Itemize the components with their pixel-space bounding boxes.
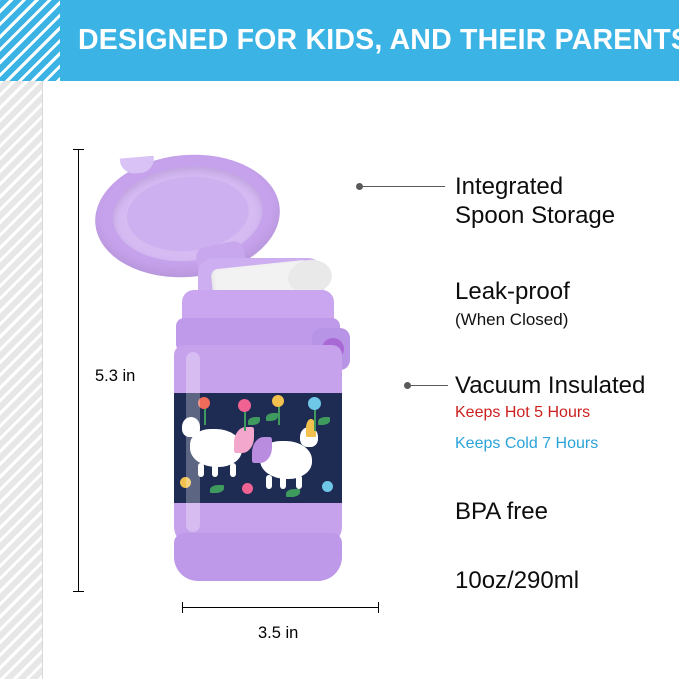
feature-leak-proof-sub: (When Closed) [455,309,568,331]
height-tick-bottom [73,591,84,592]
height-dimension-label: 5.3 in [92,365,138,388]
leaf [318,417,330,425]
left-stripe-pattern [0,81,42,679]
unicorn-leg [212,463,218,477]
flower [242,483,253,494]
lid-notch [120,156,155,175]
callout-line-vacuum-insulated [410,385,448,386]
header-banner: DESIGNED FOR KIDS, AND THEIR PARENTS [0,0,679,81]
feature-keeps-hot: Keeps Hot 5 Hours [455,402,590,423]
left-divider [42,81,43,679]
unicorn-leg [266,475,272,489]
feature-capacity: 10oz/290ml [455,566,579,595]
product-infographic: DESIGNED FOR KIDS, AND THEIR PARENTS [0,0,679,679]
leaf [266,413,278,421]
feature-keeps-cold: Keeps Cold 7 Hours [455,433,598,454]
flower [308,397,321,410]
leaf [286,489,300,497]
width-dimension-label: 3.5 in [258,624,298,643]
unicorn-leg [230,463,236,477]
unicorn-leg [296,475,302,489]
feature-bpa-free: BPA free [455,497,548,526]
height-dimension-line [78,149,79,592]
width-tick-left [182,602,183,613]
unicorn-leg [280,475,286,489]
leaf [248,417,260,425]
flower [322,481,333,492]
height-tick-top [73,149,84,150]
leaf [210,485,224,493]
jar-base [174,533,342,581]
page-title: DESIGNED FOR KIDS, AND THEIR PARENTS [78,24,679,57]
feature-spoon-storage-line2: Spoon Storage [455,201,615,230]
flower [238,399,251,412]
product-image [90,140,420,600]
jar-highlight [186,352,200,532]
feature-spoon-storage-line1: Integrated [455,172,563,201]
feature-leak-proof-title: Leak-proof [455,277,570,306]
width-dimension-line [182,607,379,608]
flower [272,395,284,407]
feature-vacuum-insulated-title: Vacuum Insulated [455,371,645,400]
header-stripe-pattern [0,0,60,81]
callout-line-spoon-storage [362,186,445,187]
width-tick-right [378,602,379,613]
